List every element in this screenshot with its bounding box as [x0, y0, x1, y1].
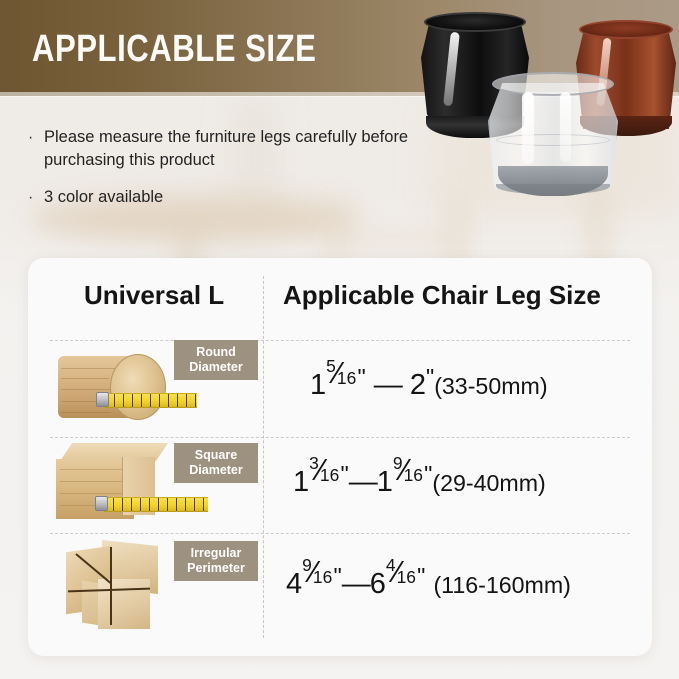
wood-round-face: [110, 354, 166, 420]
tape-measure-hook-icon: [96, 392, 109, 407]
list-item: · 3 color available: [26, 186, 446, 209]
badge-irregular-perimeter: Irregular Perimeter: [174, 541, 258, 581]
wood-grain: [61, 378, 109, 379]
round-wood-leg-illustration: [58, 348, 176, 426]
page-title: APPLICABLE SIZE: [32, 28, 316, 70]
range-dash: —: [342, 568, 370, 600]
metric-value: (33-50mm): [434, 373, 547, 399]
table-row: Irregular Perimeter 49⁄16"—64⁄16" (116-1…: [28, 533, 652, 638]
wood-grain: [60, 481, 128, 482]
tape-measure-hook-icon: [95, 496, 108, 511]
max-whole: 2: [410, 369, 426, 401]
cap-rim: [579, 20, 673, 39]
fraction-denominator: 16: [397, 567, 416, 588]
wood-grain: [60, 493, 128, 494]
size-value-irregular: 49⁄16"—64⁄16" (116-160mm): [286, 563, 571, 601]
badge-line-2: Perimeter: [183, 561, 249, 576]
inch-mark: ": [333, 563, 341, 589]
bullet-dot-icon: ·: [28, 126, 33, 149]
square-wood-leg-illustration: [56, 443, 186, 529]
min-whole: 1: [293, 466, 309, 498]
max-fraction: 4⁄16: [386, 564, 417, 593]
fraction-denominator: 16: [337, 368, 356, 389]
cap-highlight-secondary: [560, 92, 571, 162]
list-item: · Please measure the furniture legs care…: [26, 126, 446, 172]
bullet-text: Please measure the furniture legs carefu…: [44, 128, 408, 169]
measure-line-vertical: [110, 547, 112, 625]
clear-chair-leg-cap: [488, 72, 618, 210]
badge-line-2: Diameter: [183, 360, 249, 375]
inch-mark: ": [417, 563, 425, 589]
size-table-card: Universal L Applicable Chair Leg Size: [28, 258, 652, 656]
badge-line-2: Diameter: [183, 463, 249, 478]
metric-value: (29-40mm): [432, 470, 545, 496]
wood-grain: [61, 412, 111, 413]
min-whole: 1: [310, 369, 326, 401]
bullet-list: · Please measure the furniture legs care…: [26, 126, 446, 223]
min-fraction: 5⁄16: [326, 365, 357, 394]
tape-measure: [104, 497, 208, 512]
max-whole: 6: [370, 568, 386, 600]
inch-mark: ": [426, 364, 434, 390]
wood-grain: [60, 469, 128, 470]
metric-value: (116-160mm): [433, 572, 570, 598]
table-header-universal: Universal L: [84, 280, 224, 311]
cap-waist-line: [496, 134, 610, 146]
badge-line-1: Round: [183, 345, 249, 360]
background-chair-rail: [330, 236, 460, 245]
max-whole: 1: [377, 466, 393, 498]
inch-mark: ": [357, 364, 365, 390]
bullet-text: 3 color available: [44, 188, 163, 206]
max-fraction: 9⁄16: [393, 462, 424, 491]
fraction-denominator: 16: [320, 465, 339, 486]
tape-measure: [105, 393, 197, 408]
tape-ticks: [104, 498, 208, 511]
tape-ticks: [105, 394, 197, 407]
table-row: Round Diameter 15⁄16" — 2"(33-50mm): [28, 340, 652, 437]
min-fraction: 9⁄16: [302, 564, 333, 593]
fraction-denominator: 16: [313, 567, 332, 588]
range-dash: —: [374, 369, 402, 401]
range-dash: —: [349, 466, 377, 498]
infographic-page: APPLICABLE SIZE · Please: [0, 0, 679, 679]
inch-mark: ": [340, 461, 348, 487]
cap-rim: [492, 72, 614, 96]
size-value-round: 15⁄16" — 2"(33-50mm): [310, 364, 548, 402]
badge-square-diameter: Square Diameter: [174, 443, 258, 483]
cap-highlight: [522, 92, 534, 164]
wood-grain: [61, 368, 117, 369]
min-whole: 4: [286, 568, 302, 600]
badge-line-1: Square: [183, 448, 249, 463]
min-fraction: 3⁄16: [309, 462, 340, 491]
wood-block: [98, 579, 150, 629]
badge-line-1: Irregular: [183, 546, 249, 561]
table-header-chair-size: Applicable Chair Leg Size: [283, 280, 601, 311]
irregular-wood-blocks-illustration: [66, 539, 186, 631]
badge-round-diameter: Round Diameter: [174, 340, 258, 380]
cap-pad-edge: [496, 184, 610, 194]
size-value-square: 13⁄16"—19⁄16"(29-40mm): [293, 461, 546, 499]
wood-grain: [61, 389, 114, 390]
fraction-denominator: 16: [404, 465, 423, 486]
table-row: Square Diameter 13⁄16"—19⁄16"(29-40mm): [28, 437, 652, 533]
cap-rim: [424, 12, 526, 32]
bullet-dot-icon: ·: [28, 186, 33, 209]
